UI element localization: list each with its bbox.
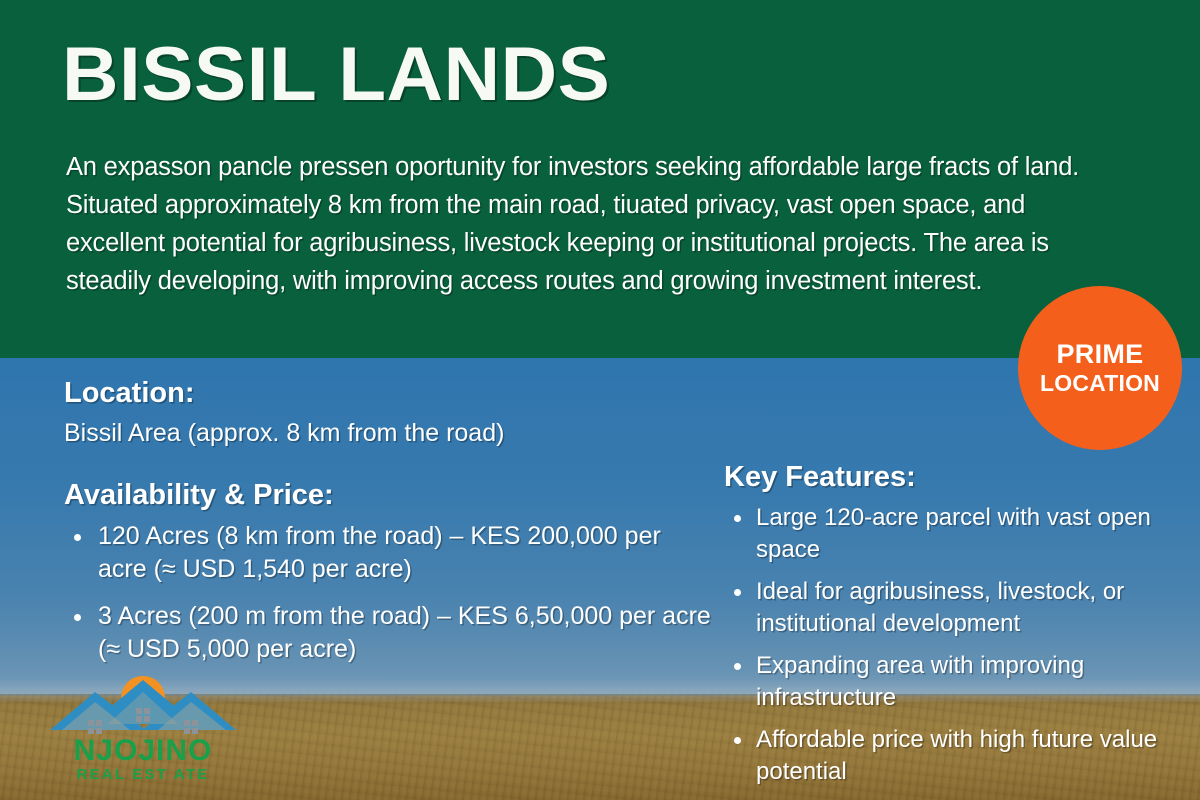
left-column: Location: Bissil Area (approx. 8 km from… [64, 374, 712, 680]
list-item: 3 Acres (200 m from the road) – KES 6,50… [64, 600, 712, 666]
list-item: 120 Acres (8 km from the road) – KES 200… [64, 520, 712, 586]
availability-list: 120 Acres (8 km from the road) – KES 200… [64, 520, 712, 666]
prime-location-badge: PRIME LOCATION [1018, 286, 1182, 450]
logo-company-name: NJOJINO [50, 734, 236, 768]
location-value: Bissil Area (approx. 8 km from the road) [64, 416, 712, 450]
key-features-list: Large 120-acre parcel with vast open spa… [724, 502, 1170, 788]
list-item: Expanding area with improving infrastruc… [724, 650, 1170, 714]
location-heading: Location: [64, 374, 712, 412]
badge-line-prime: PRIME [1056, 339, 1143, 369]
logo-houses-icon [50, 672, 236, 742]
badge-line-location: LOCATION [1040, 369, 1160, 397]
land-listing-poster: BISSIL LANDS An expasson pancle pressen … [0, 0, 1200, 800]
key-features-heading: Key Features: [724, 458, 1170, 496]
list-item: Affordable price with high future value … [724, 724, 1170, 788]
list-item: Large 120-acre parcel with vast open spa… [724, 502, 1170, 566]
page-title: BISSIL LANDS [62, 34, 610, 116]
logo-tagline: REAL EST ATE [50, 766, 236, 783]
availability-heading: Availability & Price: [64, 476, 712, 514]
intro-paragraph: An expasson pancle pressen oportunity fo… [66, 148, 1096, 300]
company-logo: NJOJINO REAL EST ATE [50, 672, 236, 796]
right-column: Key Features: Large 120-acre parcel with… [724, 458, 1170, 798]
list-item: Ideal for agribusiness, livestock, or in… [724, 576, 1170, 640]
